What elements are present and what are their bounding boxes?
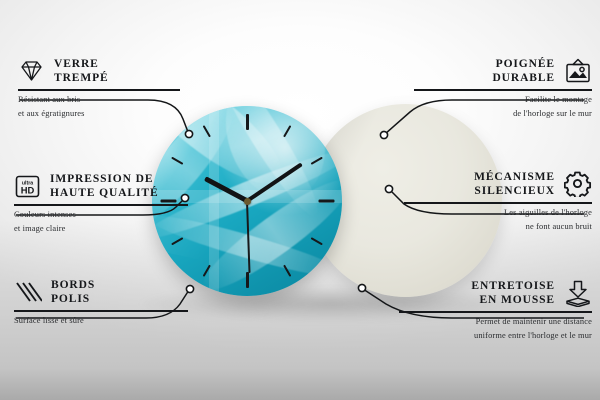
callout-desc-line1: Couleurs intenses	[14, 209, 189, 220]
callout-poignee-durable: POIGNÉE DURABLE Facilite le montage de l…	[412, 57, 592, 119]
callout-head: BORDS POLIS	[14, 278, 189, 306]
diamond-icon	[18, 59, 45, 83]
diagonal-lines-icon	[14, 280, 42, 304]
callout-desc-line1: Les aiguilles de l'horloge	[402, 207, 592, 218]
callout-head: VERRE TREMPÉ	[18, 57, 183, 85]
callout-rule	[18, 89, 180, 91]
callout-head: ultra HD IMPRESSION DE HAUTE QUALITÉ	[14, 172, 189, 200]
callout-rule	[414, 89, 592, 91]
gear-icon	[564, 171, 592, 197]
callout-head: POIGNÉE DURABLE	[412, 57, 592, 85]
callout-title-line1: MÉCANISME	[474, 170, 555, 184]
callout-desc-line2: uniforme entre l'horloge et le mur	[397, 330, 592, 341]
svg-text:HD: HD	[21, 184, 35, 195]
callout-title-line1: POIGNÉE	[492, 57, 555, 71]
callout-desc-line2: et aux égratignures	[18, 108, 183, 119]
product-infographic: VERRE TREMPÉ Résistant aux bris et aux é…	[0, 0, 600, 400]
callout-rule	[14, 204, 188, 206]
callout-title-line2: TREMPÉ	[54, 71, 109, 85]
callout-impression-haute-qualite: ultra HD IMPRESSION DE HAUTE QUALITÉ Cou…	[14, 172, 189, 234]
ultra-hd-icon: ultra HD	[14, 174, 41, 199]
callout-title-line2: DURABLE	[492, 71, 555, 85]
callout-head: ENTRETOISE EN MOUSSE	[397, 279, 592, 307]
callout-title-line2: EN MOUSSE	[471, 293, 555, 307]
callout-entretoise-en-mousse: ENTRETOISE EN MOUSSE Permet de maintenir…	[397, 279, 592, 341]
callout-desc-line2: ne font aucun bruit	[402, 221, 592, 232]
callout-desc-line1: Surface lisse et sûre	[14, 315, 189, 326]
callout-head: MÉCANISME SILENCIEUX	[402, 170, 592, 198]
callout-mecanisme-silencieux: MÉCANISME SILENCIEUX Les aiguilles de l'…	[402, 170, 592, 232]
callout-desc-line2: et image claire	[14, 223, 189, 234]
callout-title-line1: IMPRESSION DE	[50, 172, 159, 186]
callout-title-line2: HAUTE QUALITÉ	[50, 186, 159, 200]
callout-title-line2: SILENCIEUX	[474, 184, 555, 198]
callout-title-line1: BORDS	[51, 278, 95, 292]
callout-rule	[404, 202, 592, 204]
callout-rule	[399, 311, 592, 313]
callout-desc-line2: de l'horloge sur le mur	[412, 108, 592, 119]
callout-title-line2: POLIS	[51, 292, 95, 306]
callout-title-line1: ENTRETOISE	[471, 279, 555, 293]
picture-hanger-icon	[564, 58, 592, 84]
down-arrow-foam-icon	[564, 280, 592, 307]
callout-verre-trempe: VERRE TREMPÉ Résistant aux bris et aux é…	[18, 57, 183, 119]
callout-rule	[14, 310, 188, 312]
callout-bords-polis: BORDS POLIS Surface lisse et sûre	[14, 278, 189, 326]
callout-desc-line1: Permet de maintenir une distance	[397, 316, 592, 327]
callout-title-line1: VERRE	[54, 57, 109, 71]
callout-desc-line1: Facilite le montage	[412, 94, 592, 105]
callout-desc-line1: Résistant aux bris	[18, 94, 183, 105]
